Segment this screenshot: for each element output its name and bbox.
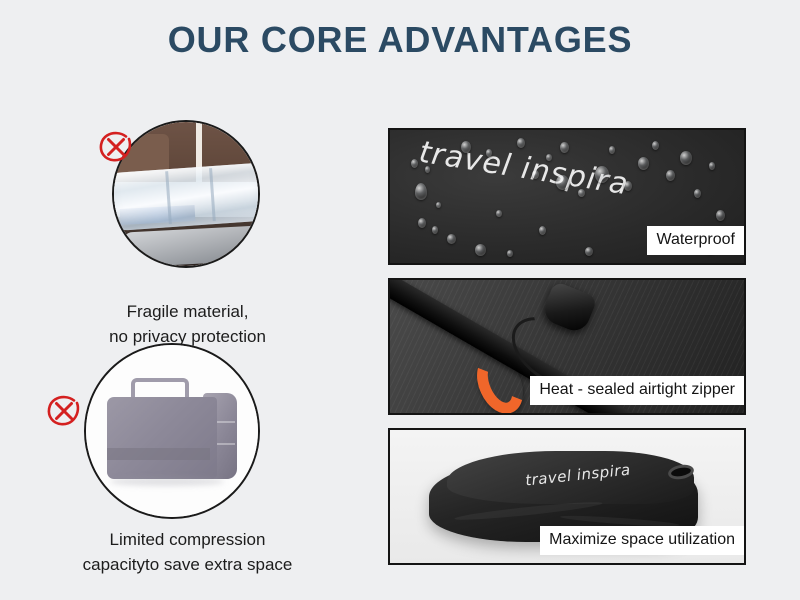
bag-shadow bbox=[110, 477, 224, 486]
water-droplet bbox=[680, 151, 692, 165]
feature-panel-zipper: Heat - sealed airtight zipper bbox=[388, 278, 746, 415]
water-droplet bbox=[425, 166, 430, 173]
water-droplet bbox=[539, 226, 546, 235]
water-droplet bbox=[436, 202, 441, 208]
comparison-caption-line-1: Limited compression bbox=[0, 527, 375, 552]
water-droplet bbox=[461, 141, 471, 153]
red-x-mark-icon bbox=[96, 127, 136, 167]
water-droplet bbox=[716, 210, 725, 221]
plastic-bag-shape-secondary bbox=[122, 225, 260, 267]
comparison-caption-line-1: Fragile material, bbox=[0, 299, 375, 324]
water-droplet bbox=[624, 181, 632, 191]
page-title: OUR CORE ADVANTAGES bbox=[0, 18, 800, 62]
comparison-photo-wrap bbox=[0, 105, 375, 285]
water-droplet bbox=[638, 157, 649, 170]
water-droplet bbox=[546, 154, 552, 161]
water-droplet bbox=[694, 189, 701, 198]
comparison-item: Fragile material, no privacy protection bbox=[0, 105, 375, 349]
water-droplet bbox=[418, 218, 426, 228]
water-droplet bbox=[560, 142, 569, 153]
comparison-photo-wrap bbox=[0, 335, 375, 515]
feature-label-space: Maximize space utilization bbox=[540, 526, 744, 555]
water-droplet bbox=[507, 250, 513, 257]
bag-flap-seam bbox=[107, 448, 210, 460]
water-droplet bbox=[532, 170, 539, 179]
comparison-item: Limited compression capacityto save extr… bbox=[0, 335, 375, 577]
feature-label-waterproof: Waterproof bbox=[647, 226, 744, 255]
water-droplet bbox=[578, 189, 585, 197]
comparison-photo-toiletry-bag bbox=[84, 343, 260, 519]
water-droplet bbox=[432, 226, 438, 234]
water-droplet bbox=[447, 234, 456, 244]
water-droplet bbox=[415, 183, 427, 200]
feature-panel-waterproof: travel inspira bbox=[388, 128, 746, 265]
red-x-mark-icon bbox=[44, 391, 84, 431]
water-droplet bbox=[652, 141, 659, 150]
water-droplet bbox=[666, 170, 675, 181]
water-droplet bbox=[585, 247, 593, 256]
plastic-bag-shape bbox=[112, 163, 260, 231]
feature-panel-space: travel inspira Maximize space utilizatio… bbox=[388, 428, 746, 565]
water-droplet bbox=[496, 210, 502, 217]
feature-column: travel inspira bbox=[388, 128, 746, 578]
comparison-caption: Limited compression capacityto save extr… bbox=[0, 527, 375, 577]
water-droplet bbox=[709, 162, 715, 170]
water-droplet bbox=[486, 149, 492, 157]
bag-body bbox=[107, 397, 217, 480]
toiletry-bag-illustration bbox=[86, 345, 258, 517]
water-droplet bbox=[475, 244, 486, 256]
comparison-column: Fragile material, no privacy protection bbox=[0, 100, 375, 600]
feature-label-zipper: Heat - sealed airtight zipper bbox=[530, 376, 744, 405]
water-droplet bbox=[517, 138, 525, 148]
water-droplet bbox=[609, 146, 615, 154]
comparison-caption-line-2: capacityto save extra space bbox=[0, 552, 375, 577]
